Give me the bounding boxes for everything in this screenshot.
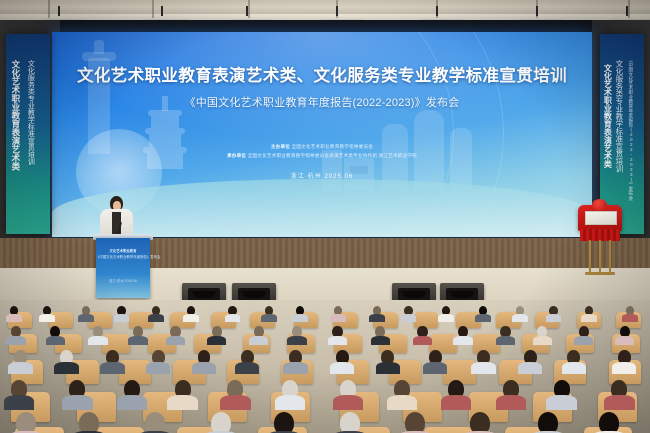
organizer-value: 全国文化艺术职业教育教学指导委员会 xyxy=(292,144,374,149)
audience-member-shoulders xyxy=(4,395,34,410)
light-cable xyxy=(536,6,538,16)
banner-right-line2: 文化服务类专业教学标准宣贯培训 xyxy=(615,60,623,173)
co-organizer-value: 全国文化艺术职业教育教学指导委员会表演艺术类专业协作组 浙江艺术职业学院 xyxy=(248,153,417,158)
audience-member-shoulders xyxy=(62,395,92,410)
vertical-banner-left: 文化艺术职业教育表演艺术类 文化服务类专业教学标准宣贯培训 xyxy=(6,34,50,234)
audience-member-shoulders xyxy=(471,362,495,374)
ceiling-seam xyxy=(152,0,154,18)
banner-left-line1: 文化艺术职业教育表演艺术类 xyxy=(11,60,20,171)
audience-member-shoulders xyxy=(287,336,306,346)
audience-member-shoulders xyxy=(518,362,542,374)
organizer-label: 主办单位 xyxy=(271,144,290,149)
pagoda-tier xyxy=(151,116,179,128)
light-cable xyxy=(58,6,60,16)
audience-member-shoulders xyxy=(612,362,636,374)
easel-leg xyxy=(609,240,611,274)
audience-member-shoulders xyxy=(192,362,216,374)
tower-spire xyxy=(94,40,104,54)
audience-member-head xyxy=(405,412,425,433)
audience-member-shoulders xyxy=(333,395,363,410)
ceiling-seam xyxy=(248,0,250,18)
audience-member-head xyxy=(599,412,619,433)
audience-member-shoulders xyxy=(292,314,308,322)
audience-member-shoulders xyxy=(225,314,241,322)
audience-member-shoulders xyxy=(54,362,78,374)
auditorium-seat xyxy=(414,312,438,328)
podium-headline: 文化艺术职业教育 xyxy=(96,248,150,253)
audience-member-shoulders xyxy=(261,314,277,322)
audience-member-head xyxy=(16,412,36,433)
audience-member-shoulders xyxy=(148,314,164,322)
podium-footline: 浙江·杭州 2025.06 xyxy=(96,278,150,283)
audience-member-shoulders xyxy=(6,314,22,322)
audience-member-shoulders xyxy=(546,314,562,322)
audience-member-shoulders xyxy=(117,395,147,410)
audience-member-shoulders xyxy=(6,336,25,346)
audience-member-head xyxy=(470,412,490,433)
audience-member-shoulders xyxy=(369,314,385,322)
light-cable xyxy=(246,6,248,16)
audience-area xyxy=(0,300,650,433)
organizer-line: 主办单位 全国文化艺术职业教育教学指导委员会 xyxy=(52,144,592,150)
skyscraper-silhouette xyxy=(450,128,472,190)
light-cable xyxy=(626,6,628,16)
audience-member-shoulders xyxy=(249,336,268,346)
audience-member-shoulders xyxy=(183,314,199,322)
audience-member-shoulders xyxy=(114,314,130,322)
audience-member-shoulders xyxy=(283,362,307,374)
audience-member-shoulders xyxy=(78,314,94,322)
place-date: 浙江·杭州 2025.06 xyxy=(52,171,592,180)
banner-right-line1: 文化艺术职业教育表演艺术类 xyxy=(603,64,611,168)
audience-member-shoulders xyxy=(423,362,447,374)
audience-member-shoulders xyxy=(604,395,634,410)
audience-member-head xyxy=(274,412,294,433)
easel-flower xyxy=(592,199,607,211)
audience-member-shoulders xyxy=(387,395,417,410)
audience-member-shoulders xyxy=(622,314,638,322)
event-title: 文化艺术职业教育表演艺术类、文化服务类专业教学标准宣贯培训 xyxy=(52,62,592,86)
audience-member-head xyxy=(145,412,165,433)
audience-member-shoulders xyxy=(574,336,593,346)
audience-member-shoulders xyxy=(496,395,526,410)
audience-member-shoulders xyxy=(475,314,491,322)
audience-member-shoulders xyxy=(8,362,32,374)
conference-hall-photo: 文化艺术职业教育表演艺术类、文化服务类专业教学标准宣贯培训 《中国文化艺术职业教… xyxy=(0,0,650,433)
audience-member-shoulders xyxy=(330,314,346,322)
audience-member-shoulders xyxy=(546,395,576,410)
audience-member-shoulders xyxy=(496,336,515,346)
easel-foot xyxy=(585,272,615,275)
podium-subline: 《中国文化艺术职业教育年度报告》发布会 xyxy=(96,254,150,259)
ceiling-seam xyxy=(628,0,630,18)
audience-member-head xyxy=(211,412,231,433)
audience-member-shoulders xyxy=(371,336,390,346)
audience-member-head xyxy=(79,412,99,433)
audience-member-shoulders xyxy=(453,336,472,346)
co-organizer-label: 承办单位 xyxy=(227,153,246,158)
audience-member-shoulders xyxy=(562,362,586,374)
ceiling-seam xyxy=(48,0,50,18)
audience-member-shoulders xyxy=(46,336,65,346)
led-backdrop-screen: 文化艺术职业教育表演艺术类、文化服务类专业教学标准宣贯培训 《中国文化艺术职业教… xyxy=(52,32,592,237)
audience-member-shoulders xyxy=(235,362,259,374)
easel-leg xyxy=(599,240,601,274)
easel-leg xyxy=(589,240,591,274)
audience-member-head xyxy=(538,412,558,433)
audience-member-shoulders xyxy=(441,395,471,410)
audience-member-shoulders xyxy=(167,395,197,410)
audience-member-shoulders xyxy=(88,336,107,346)
audience-member-shoulders xyxy=(275,395,305,410)
audience-member-shoulders xyxy=(39,314,55,322)
audience-member-shoulders xyxy=(100,362,124,374)
audience-member-shoulders xyxy=(413,336,432,346)
audience-member-shoulders xyxy=(581,314,597,322)
light-cable xyxy=(336,6,338,16)
audience-member-shoulders xyxy=(328,336,347,346)
light-cable xyxy=(161,6,163,16)
audience-member-shoulders xyxy=(615,336,634,346)
audience-member-shoulders xyxy=(166,336,185,346)
audience-member-shoulders xyxy=(146,362,170,374)
audience-member-shoulders xyxy=(220,395,250,410)
audience-member-shoulders xyxy=(330,362,354,374)
co-organizer-line: 承办单位 全国文化艺术职业教育教学指导委员会表演艺术类专业协作组 浙江艺术职业学… xyxy=(52,153,592,159)
audience-member-shoulders xyxy=(376,362,400,374)
audience-member-shoulders xyxy=(401,314,417,322)
audience-member-shoulders xyxy=(512,314,528,322)
banner-left-line2: 文化服务类专业教学标准宣贯培训 xyxy=(27,60,34,165)
banner-right-line3: 《中国文化艺术职业教育年度报告(2022-2023)》发布会 xyxy=(628,58,633,200)
easel-placard xyxy=(585,211,617,225)
audience-member-shoulders xyxy=(533,336,552,346)
audience-member-head xyxy=(340,412,360,433)
audience-member-shoulders xyxy=(438,314,454,322)
light-cable xyxy=(436,6,438,16)
event-subtitle: 《中国文化艺术职业教育年度报告(2022-2023)》发布会 xyxy=(52,94,592,110)
speaker-podium: 文化艺术职业教育 《中国文化艺术职业教育年度报告》发布会 浙江·杭州 2025.… xyxy=(96,238,150,298)
audience-member-shoulders xyxy=(207,336,226,346)
audience-member-shoulders xyxy=(128,336,147,346)
